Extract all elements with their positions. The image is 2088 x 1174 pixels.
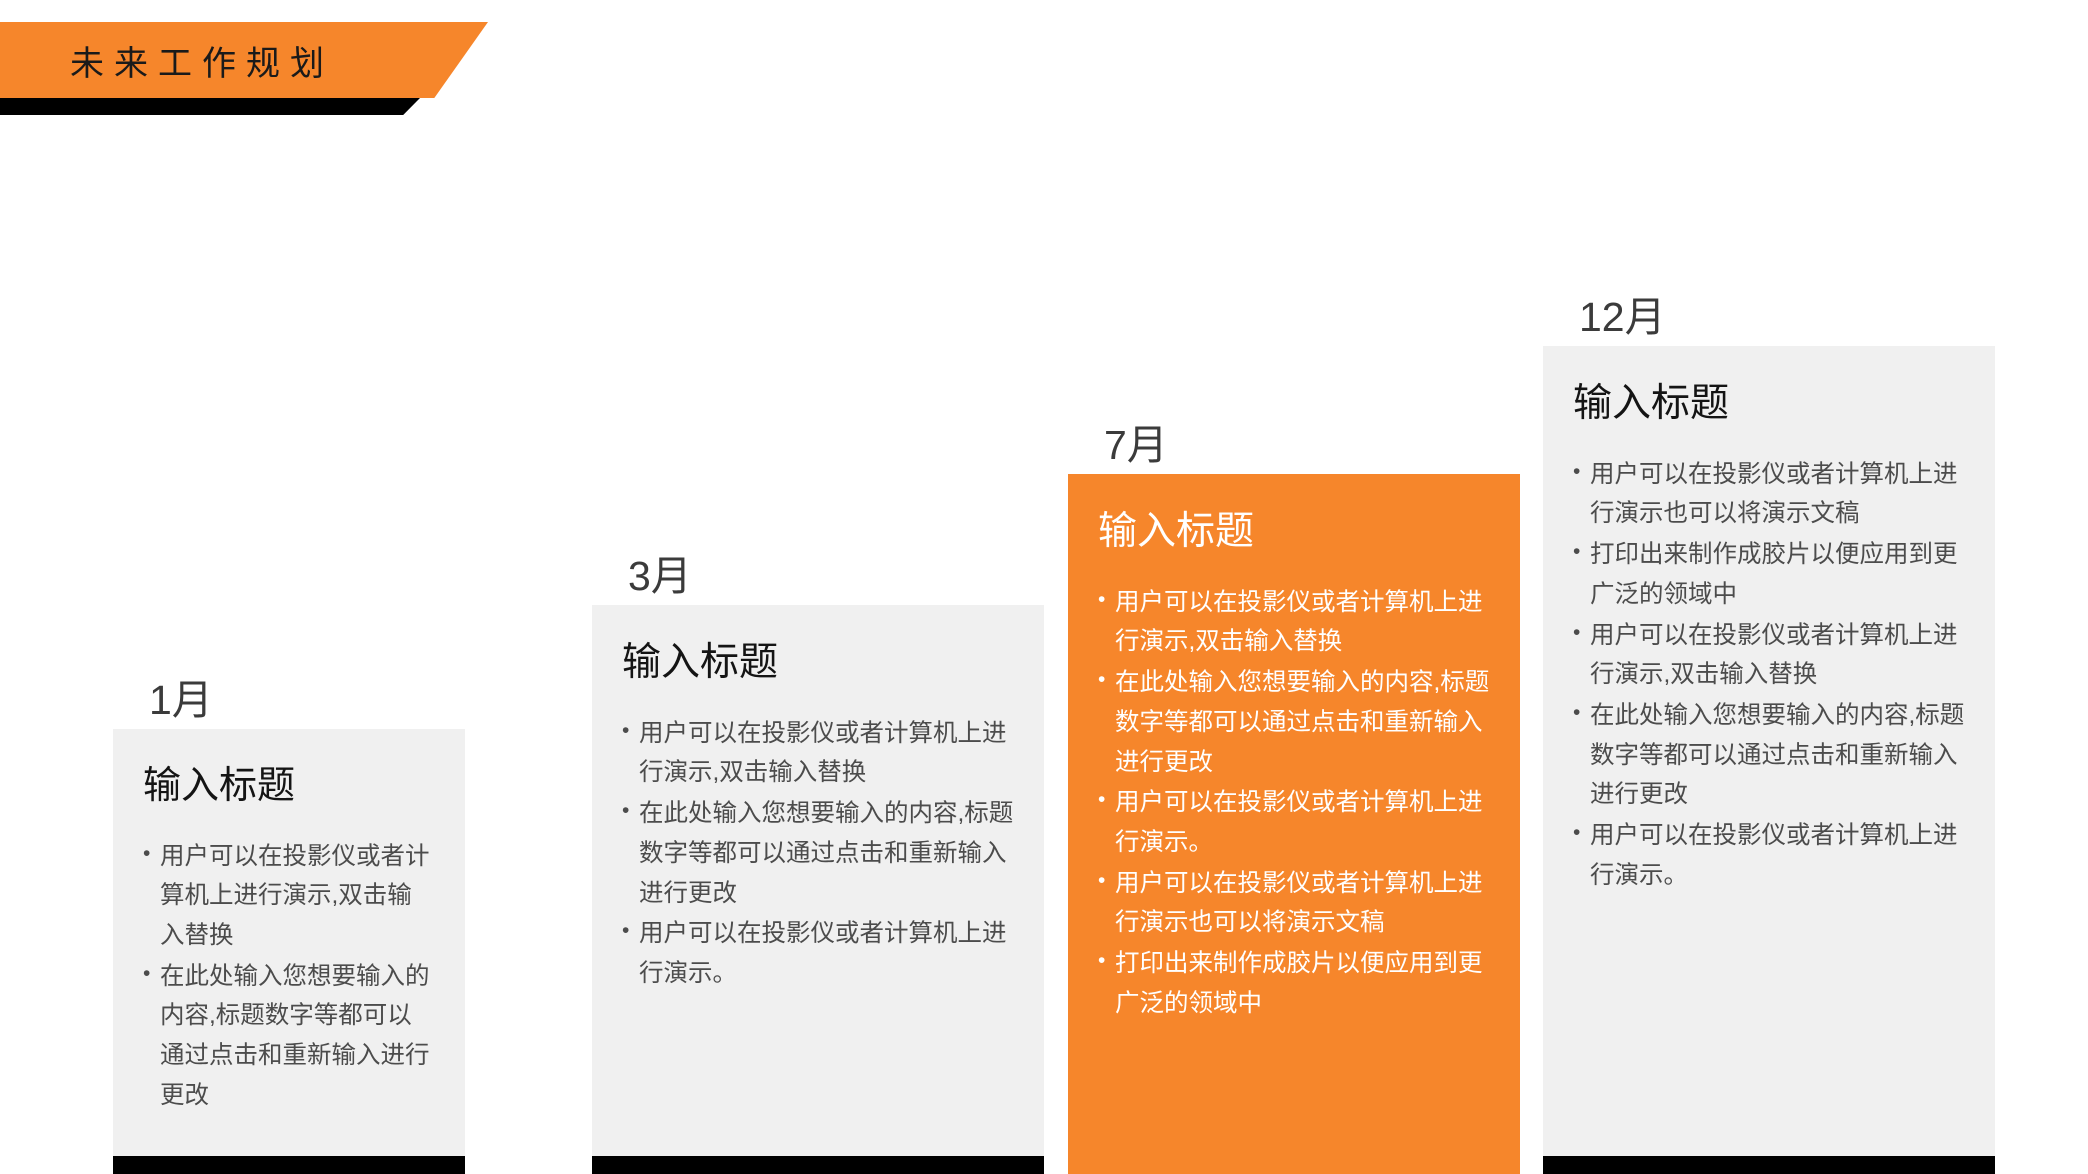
timeline-columns: 1月 输入标题 用户可以在投影仪或者计算机上进行演示,双击输入替换 在此处输入您… [0, 0, 2088, 1174]
list-item: 在此处输入您想要输入的内容,标题数字等都可以通过点击和重新输入进行更改 [1573, 696, 1965, 815]
list-item: 用户可以在投影仪或者计算机上进行演示也可以将演示文稿 [1573, 455, 1965, 534]
list-item: 在此处输入您想要输入的内容,标题数字等都可以通过点击和重新输入进行更改 [622, 794, 1014, 913]
list-item: 在此处输入您想要输入的内容,标题数字等都可以通过点击和重新输入进行更改 [143, 957, 435, 1116]
list-item: 打印出来制作成胶片以便应用到更广泛的领域中 [1098, 944, 1490, 1023]
month-label-1: 1月 [149, 678, 213, 723]
list-item: 用户可以在投影仪或者计算机上进行演示,双击输入替换 [1098, 583, 1490, 662]
panel-3: 输入标题 用户可以在投影仪或者计算机上进行演示,双击输入替换 在此处输入您想要输… [1068, 474, 1520, 1174]
timeline-column-3[interactable]: 7月 输入标题 用户可以在投影仪或者计算机上进行演示,双击输入替换 在此处输入您… [1068, 474, 1520, 1174]
panel-2: 输入标题 用户可以在投影仪或者计算机上进行演示,双击输入替换 在此处输入您想要输… [592, 605, 1044, 1156]
bullet-list-3: 用户可以在投影仪或者计算机上进行演示,双击输入替换 在此处输入您想要输入的内容,… [1098, 583, 1490, 1024]
panel-1: 输入标题 用户可以在投影仪或者计算机上进行演示,双击输入替换 在此处输入您想要输… [113, 729, 465, 1156]
list-item: 用户可以在投影仪或者计算机上进行演示也可以将演示文稿 [1098, 864, 1490, 943]
timeline-column-2[interactable]: 3月 输入标题 用户可以在投影仪或者计算机上进行演示,双击输入替换 在此处输入您… [592, 605, 1044, 1174]
panel-footbar-1 [113, 1156, 465, 1174]
list-item: 在此处输入您想要输入的内容,标题数字等都可以通过点击和重新输入进行更改 [1098, 663, 1490, 782]
panel-footbar-2 [592, 1156, 1044, 1174]
list-item: 用户可以在投影仪或者计算机上进行演示,双击输入替换 [143, 837, 435, 956]
panel-footbar-4 [1543, 1156, 1995, 1174]
bullet-list-4: 用户可以在投影仪或者计算机上进行演示也可以将演示文稿 打印出来制作成胶片以便应用… [1573, 455, 1965, 896]
bullet-list-2: 用户可以在投影仪或者计算机上进行演示,双击输入替换 在此处输入您想要输入的内容,… [622, 714, 1014, 994]
list-item: 用户可以在投影仪或者计算机上进行演示。 [1573, 816, 1965, 895]
timeline-column-4[interactable]: 12月 输入标题 用户可以在投影仪或者计算机上进行演示也可以将演示文稿 打印出来… [1543, 346, 1995, 1174]
list-item: 用户可以在投影仪或者计算机上进行演示。 [622, 914, 1014, 993]
month-label-3: 7月 [1104, 423, 1168, 468]
panel-heading-4: 输入标题 [1573, 380, 1965, 429]
timeline-column-1[interactable]: 1月 输入标题 用户可以在投影仪或者计算机上进行演示,双击输入替换 在此处输入您… [113, 729, 465, 1174]
list-item: 打印出来制作成胶片以便应用到更广泛的领域中 [1573, 535, 1965, 614]
month-label-2: 3月 [628, 554, 692, 599]
list-item: 用户可以在投影仪或者计算机上进行演示,双击输入替换 [622, 714, 1014, 793]
panel-heading-2: 输入标题 [622, 639, 1014, 688]
list-item: 用户可以在投影仪或者计算机上进行演示。 [1098, 783, 1490, 862]
month-label-4: 12月 [1579, 295, 1666, 340]
panel-4: 输入标题 用户可以在投影仪或者计算机上进行演示也可以将演示文稿 打印出来制作成胶… [1543, 346, 1995, 1156]
list-item: 用户可以在投影仪或者计算机上进行演示,双击输入替换 [1573, 616, 1965, 695]
bullet-list-1: 用户可以在投影仪或者计算机上进行演示,双击输入替换 在此处输入您想要输入的内容,… [143, 837, 435, 1116]
panel-heading-1: 输入标题 [143, 763, 435, 811]
panel-heading-3: 输入标题 [1098, 508, 1490, 557]
